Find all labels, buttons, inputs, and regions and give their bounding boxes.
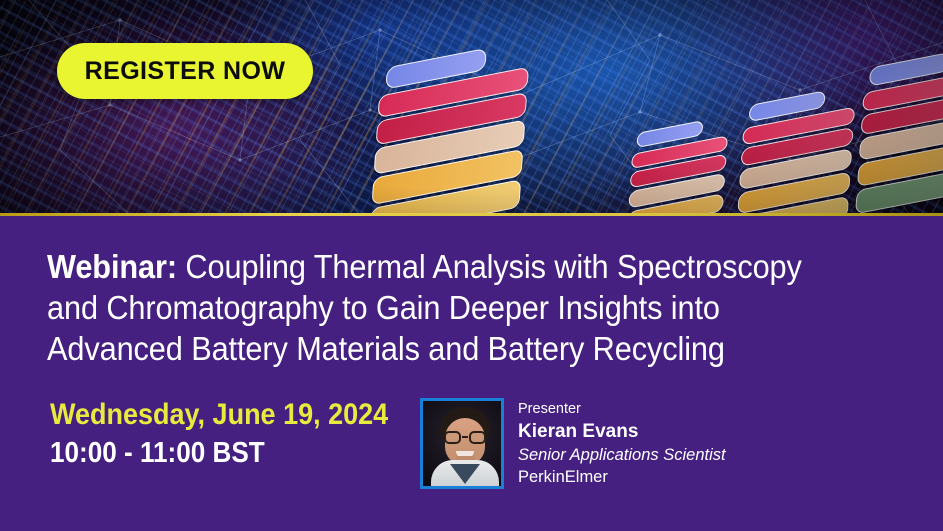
presenter-org: PerkinElmer	[518, 466, 726, 489]
hero-image: REGISTER NOW	[0, 0, 943, 215]
presenter-photo	[420, 398, 504, 489]
register-now-button[interactable]: REGISTER NOW	[57, 43, 313, 99]
webinar-time: 10:00 - 11:00 BST	[50, 437, 265, 470]
info-section: Webinar: Coupling Thermal Analysis with …	[0, 216, 943, 531]
presenter-label: Presenter	[518, 399, 726, 419]
webinar-banner: REGISTER NOW Webinar: Coupling Thermal A…	[0, 0, 943, 531]
presenter-block: Presenter Kieran Evans Senior Applicatio…	[420, 398, 726, 489]
presenter-name: Kieran Evans	[518, 419, 726, 444]
hero-vignette	[0, 0, 943, 215]
webinar-title: Webinar: Coupling Thermal Analysis with …	[47, 246, 828, 369]
register-now-label: REGISTER NOW	[85, 57, 286, 86]
glasses-icon	[443, 431, 487, 444]
webinar-title-prefix: Webinar:	[47, 248, 177, 285]
webinar-date: Wednesday, June 19, 2024	[50, 398, 388, 432]
presenter-role: Senior Applications Scientist	[518, 444, 726, 466]
